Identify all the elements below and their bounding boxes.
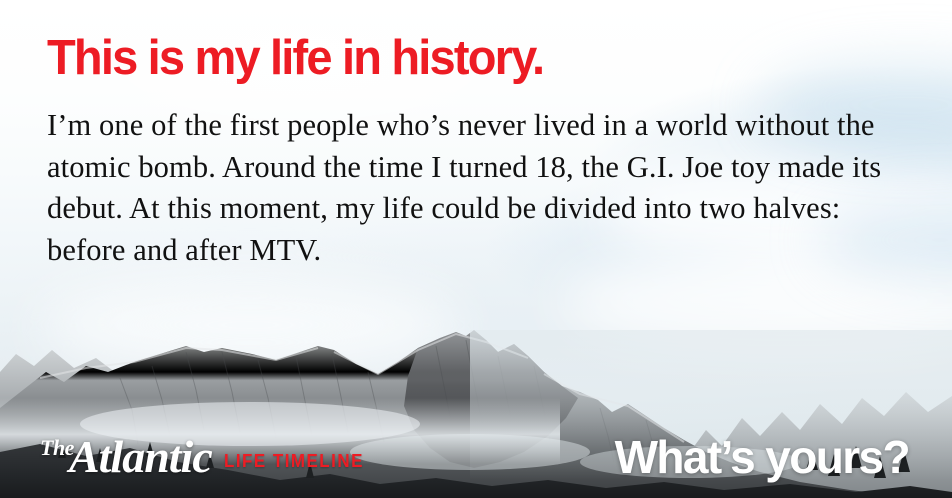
- atlantic-logo-name: Atlantic: [69, 434, 212, 480]
- brand-lockup[interactable]: TheAtlantic LIFE TIMELINE: [40, 434, 373, 480]
- life-timeline-label: LIFE TIMELINE: [224, 451, 364, 472]
- life-timeline-share-card: This is my life in history. I’m one of t…: [0, 0, 952, 498]
- call-to-action-text[interactable]: What’s yours?: [615, 430, 909, 484]
- story-paragraph: I’m one of the first people who’s never …: [47, 105, 903, 271]
- atlantic-logo[interactable]: TheAtlantic: [40, 434, 212, 480]
- atlantic-logo-the: The: [40, 437, 74, 459]
- page-title: This is my life in history.: [47, 31, 543, 85]
